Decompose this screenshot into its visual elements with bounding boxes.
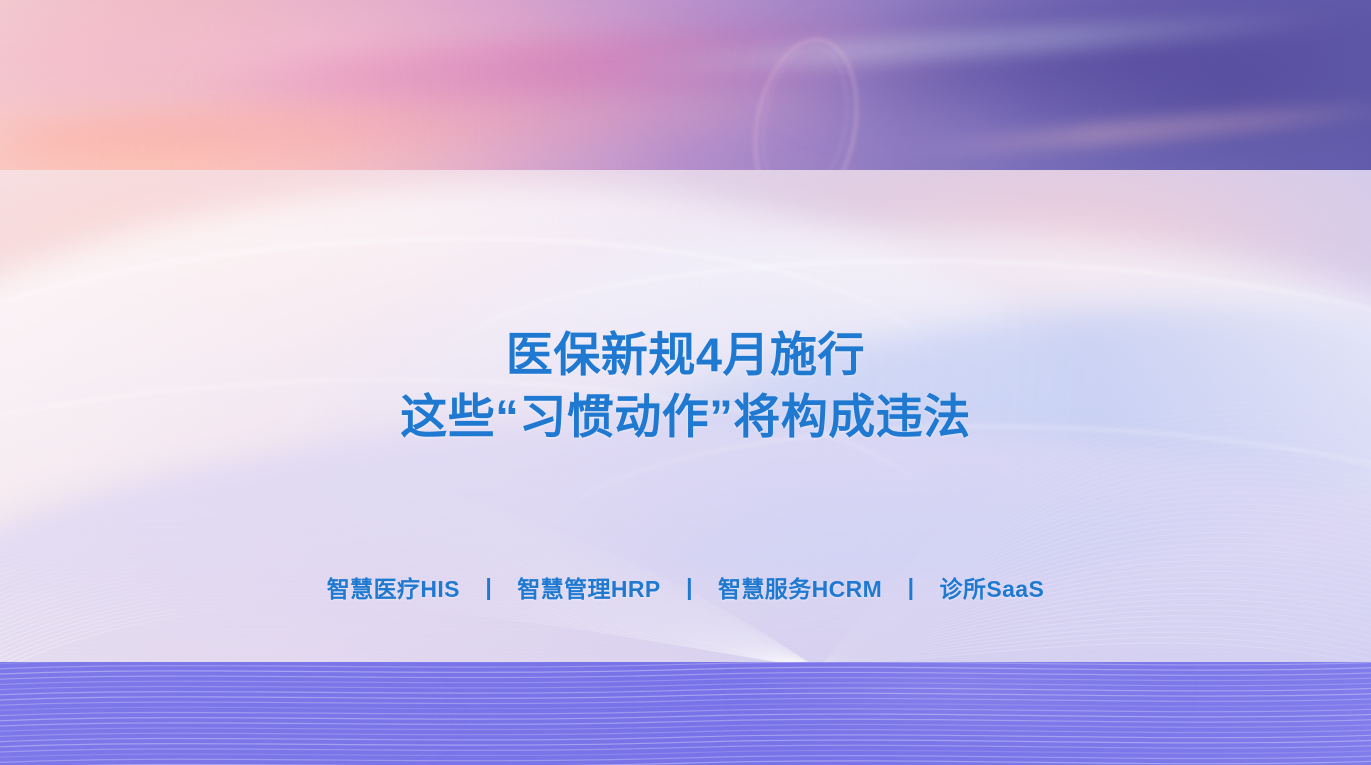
sky-band (0, 0, 1371, 170)
title-line-2: 这些“习惯动作”将构成违法 (0, 386, 1371, 448)
title-block: 医保新规4月施行 这些“习惯动作”将构成违法 (0, 324, 1371, 448)
tagline-separator-1: | (485, 574, 491, 601)
tagline-item-saas: 诊所SaaS (940, 570, 1045, 604)
tagline-item-his: 智慧医疗HIS (327, 570, 460, 604)
tagline-item-hrp: 智慧管理HRP (517, 570, 660, 604)
foot-shade-centre (700, 662, 1220, 765)
foot-band (0, 662, 1371, 765)
poster-canvas: 医保新规4月施行 这些“习惯动作”将构成违法 智慧医疗HIS | 智慧管理HRP… (0, 0, 1371, 765)
tagline-separator-2: | (686, 574, 692, 601)
foot-shade-left (0, 662, 560, 765)
tagline-item-hcrm: 智慧服务HCRM (718, 570, 882, 604)
tagline-row: 智慧医疗HIS | 智慧管理HRP | 智慧服务HCRM | 诊所SaaS (0, 570, 1371, 604)
title-line-1: 医保新规4月施行 (0, 324, 1371, 386)
tagline-separator-3: | (908, 574, 914, 601)
